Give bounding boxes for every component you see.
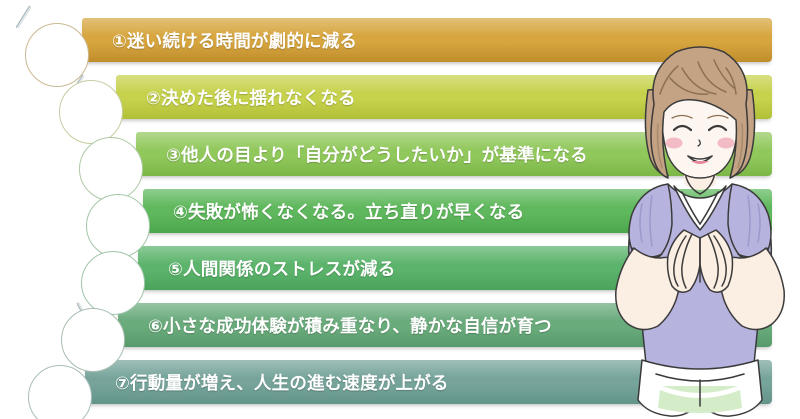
step-circle-4[interactable] bbox=[86, 194, 150, 258]
benefit-label-5: ⑤人間関係のストレスが減る bbox=[168, 246, 395, 290]
step-circle-7[interactable] bbox=[28, 365, 92, 419]
benefit-row: ⑤人間関係のストレスが減る bbox=[0, 246, 800, 290]
benefit-row: ④失敗が怖くなくなる。立ち直りが早くなる bbox=[0, 189, 800, 233]
step-circle-5[interactable] bbox=[81, 251, 145, 315]
benefit-row: ②決めた後に揺れなくなる bbox=[0, 75, 800, 119]
benefit-row: ①迷い続ける時間が劇的に減る bbox=[0, 18, 800, 62]
infographic-canvas: ①迷い続ける時間が劇的に減る②決めた後に揺れなくなる③他人の目より「自分がどうし… bbox=[0, 0, 800, 419]
step-circle-2[interactable] bbox=[59, 80, 123, 144]
benefit-label-6: ⑥小さな成功体験が積み重なり、静かな自信が育つ bbox=[148, 303, 552, 347]
benefit-label-7: ⑦行動量が増え、人生の進む速度が上がる bbox=[115, 360, 449, 404]
benefit-label-2: ②決めた後に揺れなくなる bbox=[146, 75, 356, 119]
benefit-label-3: ③他人の目より「自分がどうしたいか」が基準になる bbox=[166, 132, 588, 176]
benefit-row: ③他人の目より「自分がどうしたいか」が基準になる bbox=[0, 132, 800, 176]
step-circle-3[interactable] bbox=[79, 137, 143, 201]
benefit-row: ⑦行動量が増え、人生の進む速度が上がる bbox=[0, 360, 800, 404]
step-circle-1[interactable] bbox=[25, 23, 89, 87]
step-circle-6[interactable] bbox=[61, 308, 125, 372]
benefit-label-1: ①迷い続ける時間が劇的に減る bbox=[112, 18, 357, 62]
benefit-label-4: ④失敗が怖くなくなる。立ち直りが早くなる bbox=[173, 189, 524, 233]
